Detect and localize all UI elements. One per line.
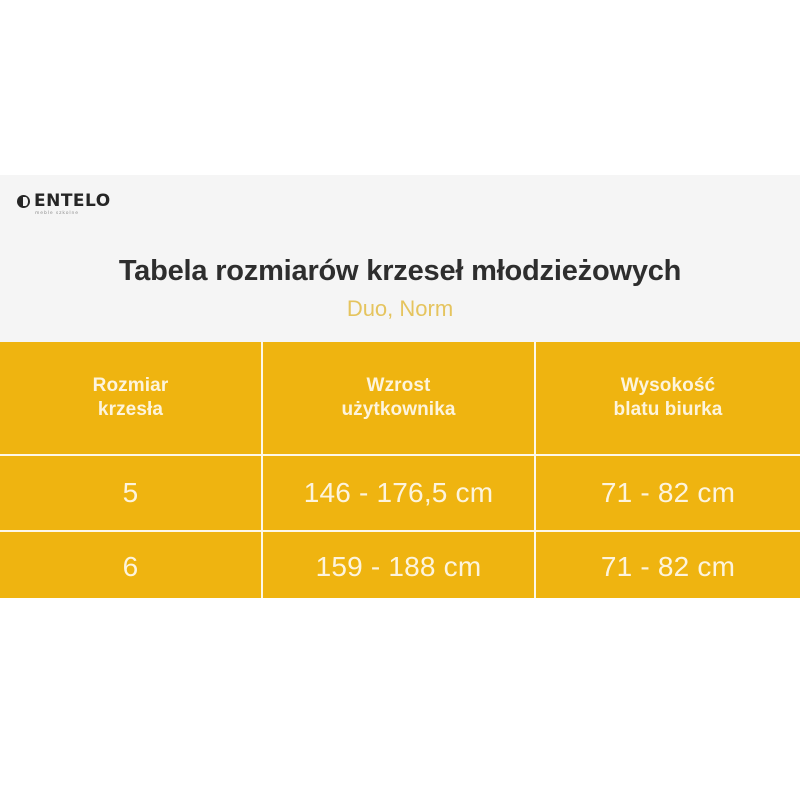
page-top-whitespace [0,0,800,175]
column-header-chair-size-line1: Rozmiar [0,374,261,398]
column-header-user-height-line2: użytkownika [263,398,534,422]
table-row: 6 159 - 188 cm 71 - 82 cm [0,531,800,602]
column-header-chair-size: Rozmiar krzesła [0,342,262,455]
cell-chair-size: 6 [0,531,262,602]
entelo-circle-mark-icon [17,195,30,208]
logo-row: ENTELO [17,193,111,210]
table-header-row: Rozmiar krzesła Wzrost użytkownika Wysok… [0,342,800,455]
page-title: Tabela rozmiarów krzeseł młodzieżowych [0,254,800,289]
table-body: 5 146 - 176,5 cm 71 - 82 cm 6 159 - 188 … [0,455,800,602]
column-header-chair-size-line2: krzesła [0,398,261,422]
cell-user-height: 146 - 176,5 cm [262,455,535,531]
table-row: 5 146 - 176,5 cm 71 - 82 cm [0,455,800,531]
entelo-logo: ENTELO meble szkolne [17,193,111,217]
size-chart-page: ENTELO meble szkolne Tabela rozmiarów kr… [0,0,800,800]
cell-user-height: 159 - 188 cm [262,531,535,602]
column-header-desk-height-line1: Wysokość [536,374,800,398]
page-bottom-whitespace [0,598,800,800]
page-subtitle: Duo, Norm [0,296,800,322]
logo-tagline: meble szkolne [35,212,79,217]
column-header-user-height-line1: Wzrost [263,374,534,398]
table-header: Rozmiar krzesła Wzrost użytkownika Wysok… [0,342,800,455]
column-header-user-height: Wzrost użytkownika [262,342,535,455]
column-header-desk-height-line2: blatu biurka [536,398,800,422]
cell-desk-height: 71 - 82 cm [535,531,800,602]
logo-wordmark: ENTELO [34,193,111,210]
column-header-desk-height: Wysokość blatu biurka [535,342,800,455]
cell-chair-size: 5 [0,455,262,531]
cell-desk-height: 71 - 82 cm [535,455,800,531]
size-table: Rozmiar krzesła Wzrost użytkownika Wysok… [0,342,800,602]
size-table-wrapper: Rozmiar krzesła Wzrost użytkownika Wysok… [0,342,800,598]
